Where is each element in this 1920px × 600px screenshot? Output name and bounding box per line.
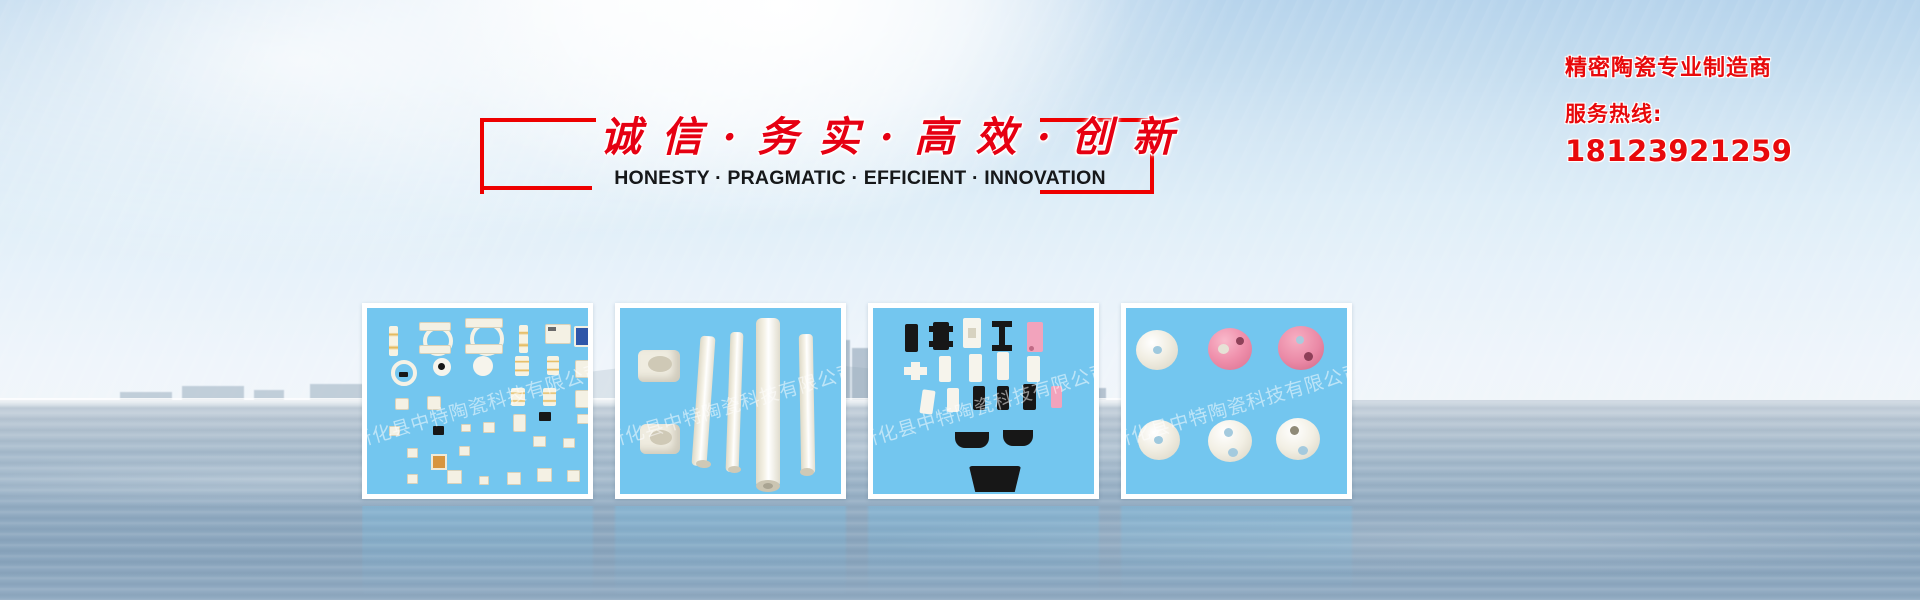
product-panel-3[interactable]: 新化县中特陶瓷科技有限公司	[868, 303, 1099, 499]
hotline-label: 服务热线:	[1565, 98, 1905, 128]
product-panel-2-image: 新化县中特陶瓷科技有限公司	[620, 308, 841, 494]
product-parts-group-4	[1126, 308, 1347, 494]
product-parts-group-3	[873, 308, 1094, 494]
product-parts-group-1	[367, 308, 588, 494]
product-panel-1-image: 新化县中特陶瓷科技有限公司	[367, 308, 588, 494]
hero-banner: 诚 信 · 务 实 · 高 效 · 创 新 HONESTY · PRAGMATI…	[0, 0, 1920, 600]
contact-block: 精密陶瓷专业制造商 服务热线: 18123921259	[1565, 50, 1905, 168]
slogan-english: HONESTY · PRAGMATIC · EFFICIENT · INNOVA…	[600, 167, 1120, 190]
product-panel-2[interactable]: 新化县中特陶瓷科技有限公司	[615, 303, 846, 499]
product-panel-4[interactable]: 新化县中特陶瓷科技有限公司	[1121, 303, 1352, 499]
product-panel-4-image: 新化县中特陶瓷科技有限公司	[1126, 308, 1347, 494]
product-panel-1[interactable]: 新化县中特陶瓷科技有限公司	[362, 303, 593, 499]
product-panel-3-image: 新化县中特陶瓷科技有限公司	[873, 308, 1094, 494]
bracket-left-decor	[480, 118, 596, 194]
hotline-phone-number[interactable]: 18123921259	[1565, 134, 1905, 168]
company-tagline: 精密陶瓷专业制造商	[1565, 50, 1905, 82]
product-panel-strip: 新化县中特陶瓷科技有限公司	[362, 303, 1586, 499]
bracket-left-bottom-decor	[480, 186, 592, 190]
slogan-chinese: 诚 信 · 务 实 · 高 效 · 创 新	[600, 103, 1120, 163]
slogan-block: 诚 信 · 务 实 · 高 效 · 创 新 HONESTY · PRAGMATI…	[600, 95, 1120, 210]
product-parts-group-2	[620, 308, 841, 494]
